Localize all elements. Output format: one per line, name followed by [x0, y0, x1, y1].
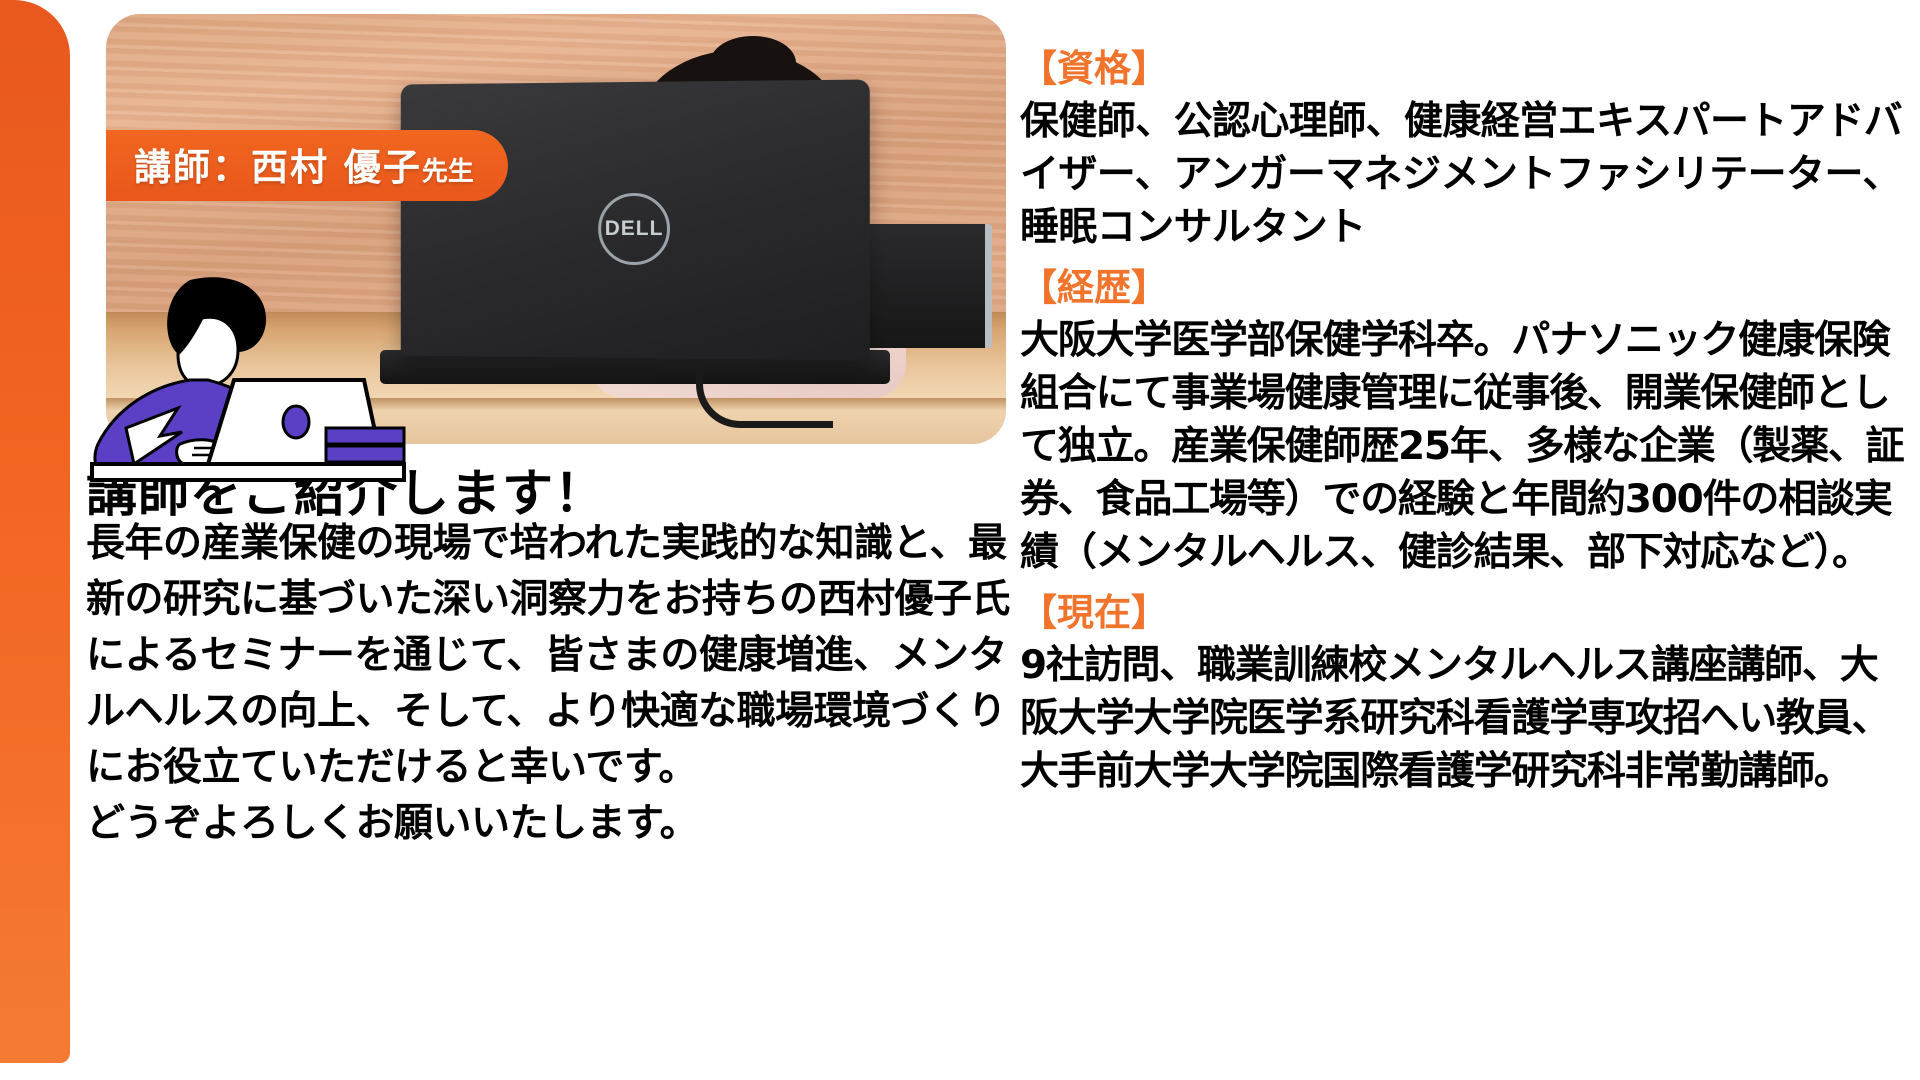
right-column: 【資格】 保健師、公認心理師、健康経営エキスパートアドバイザー、アンガーマネジメ… [1020, 44, 1910, 807]
instructor-name-badge: 講師：西村 優子先生 [106, 130, 508, 201]
instructor-name-text: 講師：西村 優子 [134, 146, 422, 189]
section-title-qualifications: 【資格】 [1020, 44, 1910, 94]
section-body-qualifications: 保健師、公認心理師、健康経営エキスパートアドバイザー、アンガーマネジメントファシ… [1020, 95, 1910, 254]
instructor-name-suffix: 先生 [422, 157, 474, 187]
laptop: DELL [396, 82, 866, 358]
laptop-lid: DELL [401, 79, 870, 360]
section-title-current: 【現在】 [1020, 588, 1910, 638]
slide-root: Yakult 1000 DELL 講師：西村 優子先生 [0, 0, 1920, 1080]
section-qualifications: 【資格】 保健師、公認心理師、健康経営エキスパートアドバイザー、アンガーマネジメ… [1020, 44, 1910, 254]
left-paragraph: 長年の産業保健の現場で培われた実践的な知識と、最新の研究に基づいた深い洞察力をお… [86, 516, 1010, 852]
section-body-career: 大阪大学医学部保健学科卒。パナソニック健康保険組合にて事業場健康管理に従事後、開… [1020, 314, 1910, 579]
dell-logo-icon: DELL [598, 192, 670, 264]
person-at-laptop-illustration [82, 268, 442, 488]
section-current: 【現在】 9社訪問、職業訓練校メンタルヘルス講座講師、大阪大学大学院医学系研究科… [1020, 588, 1910, 798]
section-body-current: 9社訪問、職業訓練校メンタルヘルス講座講師、大阪大学大学院医学系研究科看護学専攻… [1020, 639, 1910, 798]
left-column: Yakult 1000 DELL 講師：西村 優子先生 [82, 0, 1012, 1080]
section-career: 【経歴】 大阪大学医学部保健学科卒。パナソニック健康保険組合にて事業場健康管理に… [1020, 263, 1910, 579]
laptop-cable [696, 369, 833, 428]
section-title-career: 【経歴】 [1020, 263, 1910, 313]
left-accent-bar [0, 0, 70, 1063]
